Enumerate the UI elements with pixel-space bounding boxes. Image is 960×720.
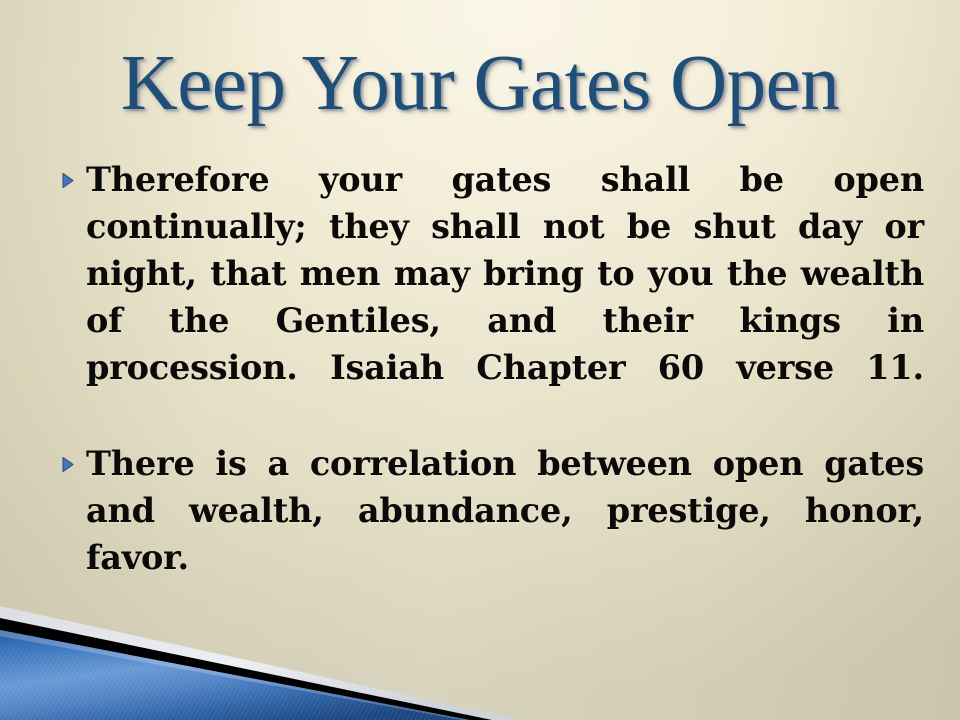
- list-item-text: There is a correlation between open gate…: [86, 440, 924, 628]
- triangle-bullet-icon: [58, 440, 86, 474]
- slide-canvas: Keep Your Gates Open Therefore your gate…: [0, 0, 960, 720]
- list-item[interactable]: There is a correlation between open gate…: [58, 440, 924, 628]
- page-title: Keep Your Gates Open: [121, 44, 839, 125]
- content-placeholder[interactable]: Therefore your gates shall be open conti…: [58, 156, 924, 630]
- list-item-text: Therefore your gates shall be open conti…: [86, 156, 924, 438]
- decor-blue-wedge: [0, 630, 470, 720]
- triangle-bullet-icon: [58, 156, 86, 190]
- decor-blue-edge-highlight: [0, 630, 470, 720]
- title-placeholder[interactable]: Keep Your Gates Open: [0, 26, 960, 142]
- list-item[interactable]: Therefore your gates shall be open conti…: [58, 156, 924, 438]
- decor-black-stripe: [0, 618, 492, 720]
